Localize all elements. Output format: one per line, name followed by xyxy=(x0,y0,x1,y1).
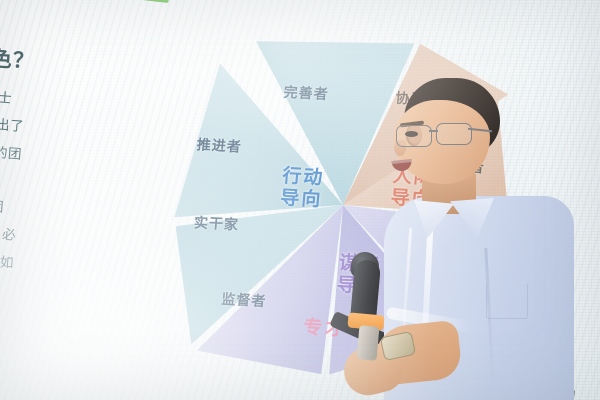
axis-label-action-oriented: 行动 导向 xyxy=(279,165,325,212)
axis-action-line1: 行动 xyxy=(281,165,325,190)
role-label-perfecter: 完善者 xyxy=(283,82,330,104)
role-label-shaper: 推进者 xyxy=(196,134,243,156)
role-label-implementer: 实干家 xyxy=(193,212,240,234)
shirt-pocket xyxy=(486,284,528,319)
glasses-bridge xyxy=(429,130,438,132)
role-label-monitor: 监督者 xyxy=(221,289,268,311)
slide-title: 有哪些角色？ xyxy=(0,40,153,82)
microphone-handle-end xyxy=(357,325,380,361)
glasses-lens-right xyxy=(436,123,472,145)
presentation-photo: 有哪些角色？ 部主任贝尔宾博士 究和实践，总结出了 即一支结构合理的团 色。 论… xyxy=(0,0,600,400)
slide-accent-bar xyxy=(0,0,170,3)
slide-text-block: 有哪些角色？ 部主任贝尔宾博士 究和实践，总结出了 即一支结构合理的团 色。 论… xyxy=(0,40,153,314)
slide-body: 部主任贝尔宾博士 究和实践，总结出了 即一支结构合理的团 色。 论认为，高效的团… xyxy=(0,78,151,314)
speaker-figure xyxy=(378,78,600,400)
glasses-lens-left xyxy=(396,125,432,147)
eyeglasses-icon xyxy=(388,122,480,148)
axis-action-line2: 导向 xyxy=(279,187,323,212)
